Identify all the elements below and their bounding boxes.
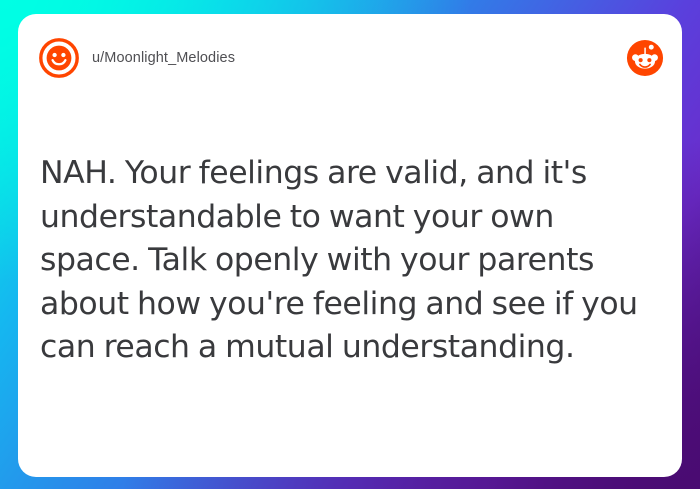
card-header: u/Moonlight_Melodies [18,14,682,102]
screenshot-root: u/Moonlight_Melodies [0,0,700,489]
user-identity-block[interactable]: u/Moonlight_Melodies [39,38,626,78]
post-text: NAH. Your feelings are valid, and it's u… [40,152,660,370]
smiley-face-avatar-icon [39,38,79,78]
reddit-snoo-logo-icon[interactable] [626,39,664,77]
username-label: u/Moonlight_Melodies [92,50,235,66]
card-body: NAH. Your feelings are valid, and it's u… [18,102,682,477]
reddit-comment-card: u/Moonlight_Melodies [18,14,682,477]
